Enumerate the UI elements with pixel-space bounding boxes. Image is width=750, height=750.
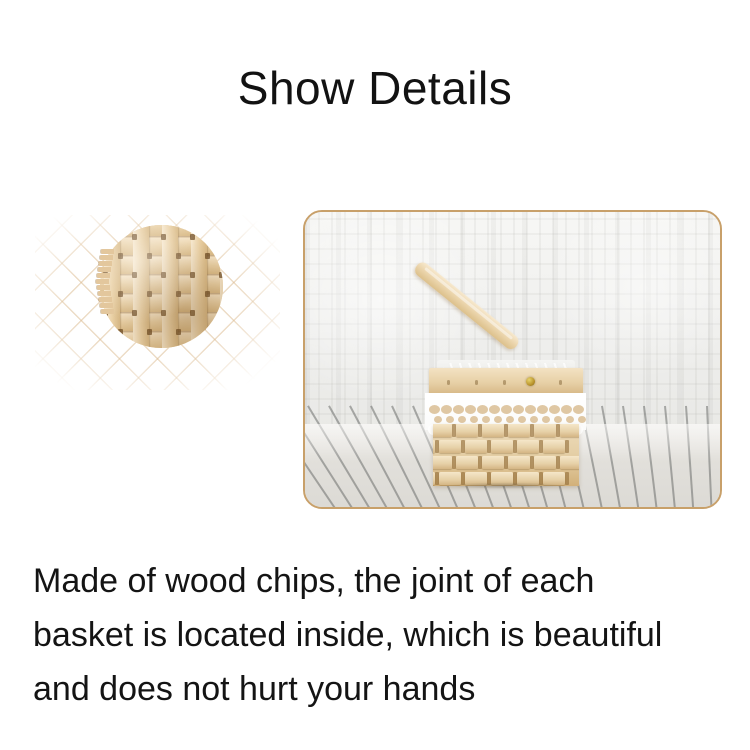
- description-line-2: basket is located inside, which is beaut…: [33, 608, 723, 662]
- product-description: Made of wood chips, the joint of each ba…: [33, 554, 723, 716]
- basket-product-photo: [303, 210, 722, 509]
- brass-rivet-icon: [526, 377, 535, 386]
- basket-handle: [412, 260, 521, 352]
- fringe-edge-icon: [96, 249, 120, 311]
- description-line-3: and does not hurt your hands: [33, 662, 723, 716]
- basket-contact-shadow: [429, 482, 583, 491]
- description-line-1: Made of wood chips, the joint of each: [33, 554, 723, 608]
- basket-top-rail: [429, 368, 583, 395]
- weave-closeup-inset: [30, 205, 285, 405]
- page-title: Show Details: [0, 62, 750, 114]
- basket-woven-body: [433, 424, 579, 486]
- wood-chip-basket: [423, 264, 588, 486]
